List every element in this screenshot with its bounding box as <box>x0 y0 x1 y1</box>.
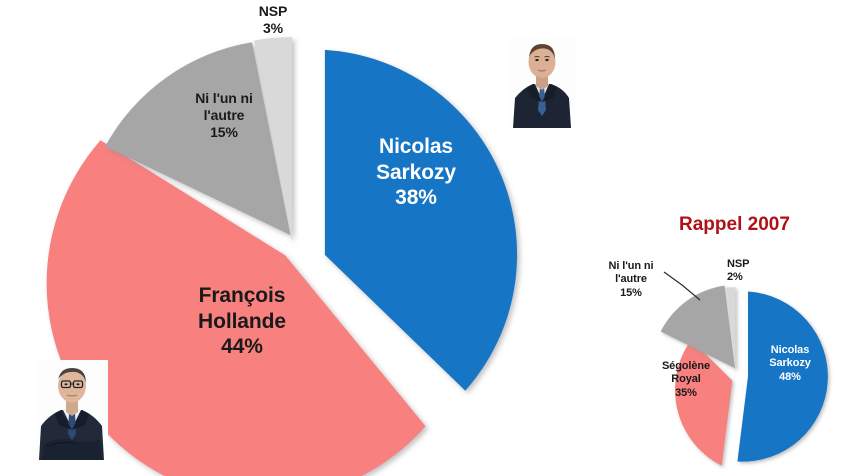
main-label-neither-pct: 15% <box>160 124 288 141</box>
recall-label-neither-pct: 15% <box>595 287 667 300</box>
recall-label-royal-pct: 35% <box>646 387 726 400</box>
main-label-sarkozy-pct: 38% <box>330 185 502 211</box>
main-label-neither: Ni l'un ni l'autre 15% <box>160 90 288 141</box>
sarkozy-portrait <box>509 36 575 128</box>
main-label-neither-line2: l'autre <box>160 107 288 124</box>
main-label-neither-line1: Ni l'un ni <box>160 90 288 107</box>
main-label-hollande-pct: 44% <box>142 334 342 360</box>
recall-label-neither: Ni l'un ni l'autre 15% <box>595 260 667 300</box>
main-label-nsp-line1: NSP <box>240 3 306 20</box>
recall-label-royal: Ségolène Royal 35% <box>646 360 726 400</box>
hollande-portrait <box>36 360 108 460</box>
main-label-hollande: François Hollande 44% <box>142 283 342 360</box>
recall-label-nsp: NSP 2% <box>727 258 767 285</box>
recall-label-neither-line1: Ni l'un ni <box>595 260 667 273</box>
main-pie-chart-graphic <box>0 0 846 476</box>
main-label-hollande-line1: François <box>142 283 342 309</box>
main-slice-sarkozy[interactable] <box>325 50 517 391</box>
recall-chart-title: Rappel 2007 <box>679 214 790 236</box>
poll-infographic: Nicolas Sarkozy 38% François Hollande 44… <box>0 0 846 476</box>
main-label-hollande-line2: Hollande <box>142 309 342 335</box>
recall-label-neither-line2: l'autre <box>595 273 667 286</box>
main-label-sarkozy: Nicolas Sarkozy 38% <box>330 134 502 211</box>
hollande-portrait-image <box>36 360 108 460</box>
recall-slice-neither[interactable] <box>661 286 736 369</box>
recall-label-nsp-pct: 2% <box>727 271 767 284</box>
recall-slice-royal[interactable] <box>675 340 732 466</box>
recall-label-sarkozy: Nicolas Sarkozy 48% <box>753 344 827 384</box>
main-label-nsp: NSP 3% <box>240 3 306 37</box>
main-label-sarkozy-line1: Nicolas <box>330 134 502 160</box>
main-label-nsp-pct: 3% <box>240 20 306 37</box>
recall-slice-nsp[interactable] <box>725 287 736 372</box>
recall-neither-leader-line <box>664 272 700 300</box>
main-label-sarkozy-line2: Sarkozy <box>330 160 502 186</box>
recall-label-sarkozy-line2: Sarkozy <box>753 357 827 370</box>
recall-label-royal-line1: Ségolène <box>646 360 726 373</box>
sarkozy-portrait-image <box>509 36 575 128</box>
recall-label-sarkozy-line1: Nicolas <box>753 344 827 357</box>
recall-label-nsp-line1: NSP <box>727 258 767 271</box>
recall-label-royal-line2: Royal <box>646 373 726 386</box>
recall-label-sarkozy-pct: 48% <box>753 371 827 384</box>
